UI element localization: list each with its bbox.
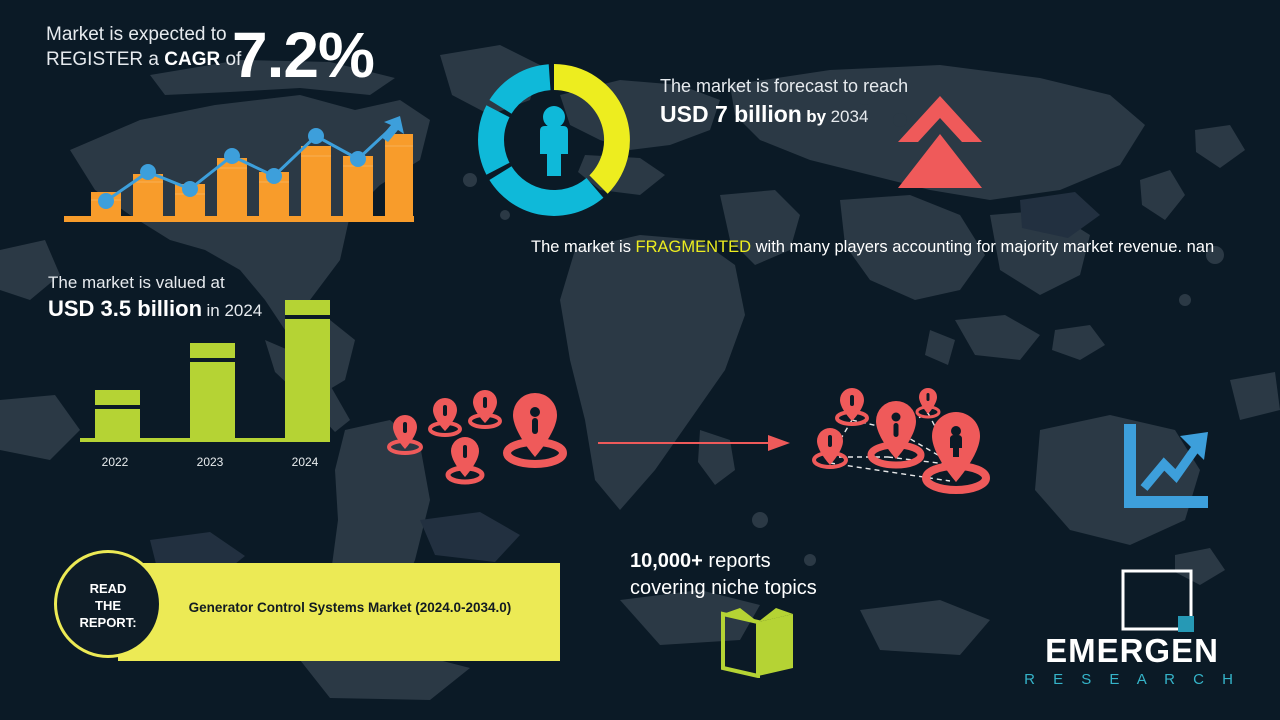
open-book-icon <box>718 606 798 678</box>
market-value-bars <box>95 300 330 438</box>
logo-name: EMERGEN <box>1012 634 1252 667</box>
read-report-line3: REPORT: <box>54 614 162 631</box>
reports-line1: 10,000+ reports <box>630 548 930 575</box>
bar-label-2024: 2024 <box>275 455 335 469</box>
forecast-year: 2034 <box>831 107 869 126</box>
map-pin-large-1 <box>507 393 563 464</box>
up-chevron-arrows-icon <box>890 88 990 188</box>
growth-bars <box>91 134 413 216</box>
forecast-value: USD 7 billion <box>660 101 802 127</box>
emergen-research-logo: EMERGEN R E S E A R C H <box>1012 568 1252 708</box>
logo-subtitle: R E S E A R C H <box>1012 672 1252 687</box>
report-title-label: Generator Control Systems Market (2024.0… <box>160 600 540 615</box>
cagr-line2-pre: REGISTER a <box>46 49 164 70</box>
reports-line1-rest: reports <box>703 550 771 572</box>
reports-line2: covering niche topics <box>630 575 930 602</box>
network-pin-4 <box>871 401 921 465</box>
growth-bar-chart <box>64 84 414 224</box>
reports-count: 10,000+ <box>630 550 703 572</box>
transition-arrow-icon <box>598 432 793 454</box>
market-share-donut <box>466 52 642 228</box>
fragmentation-pre: The market is <box>531 238 636 256</box>
donut-person-icon <box>540 106 568 176</box>
fragmentation-line: The market is FRAGMENTED with many playe… <box>531 236 1221 259</box>
read-report-line2: THE <box>54 597 162 614</box>
map-pin-small-2 <box>430 398 460 435</box>
market-value-axis <box>80 438 330 442</box>
scattered-location-pins-group <box>380 385 580 495</box>
map-pin-small-3 <box>470 390 500 427</box>
read-report-label: READ THE REPORT: <box>54 580 162 631</box>
logo-square-icon <box>1120 568 1194 632</box>
map-pin-small-4 <box>448 437 482 482</box>
market-value-line1: The market is valued at <box>48 272 348 294</box>
network-pin-2 <box>917 388 939 417</box>
network-pin-5 <box>926 412 986 490</box>
market-value-bar-chart <box>80 295 330 450</box>
connected-location-pins-network <box>800 385 1010 500</box>
cagr-value: 7.2% <box>232 23 374 87</box>
network-pin-1 <box>837 388 867 424</box>
growth-chart-icon <box>1118 422 1210 514</box>
growth-baseline <box>64 216 414 222</box>
fragmentation-text-block: The market is FRAGMENTED with many playe… <box>531 236 1221 259</box>
chevron-lower <box>898 134 982 188</box>
fragmentation-post: with many players accounting for majorit… <box>751 238 1214 256</box>
map-pin-small-1 <box>389 415 421 453</box>
bar-label-2022: 2022 <box>85 455 145 469</box>
read-report-line1: READ <box>54 580 162 597</box>
donut-slice-cyan-2 <box>478 105 509 174</box>
fragmentation-highlight: FRAGMENTED <box>636 238 752 256</box>
forecast-by-label: by <box>806 107 826 126</box>
reports-count-text-block: 10,000+ reports covering niche topics <box>630 548 930 602</box>
donut-slice-cyan-3 <box>489 64 550 114</box>
bar-label-2023: 2023 <box>180 455 240 469</box>
infographic-canvas: Market is expected to REGISTER a CAGR of… <box>0 0 1280 720</box>
donut-slice-cyan-1 <box>489 166 603 216</box>
cagr-keyword: CAGR <box>164 49 220 70</box>
network-pin-3 <box>814 428 846 467</box>
